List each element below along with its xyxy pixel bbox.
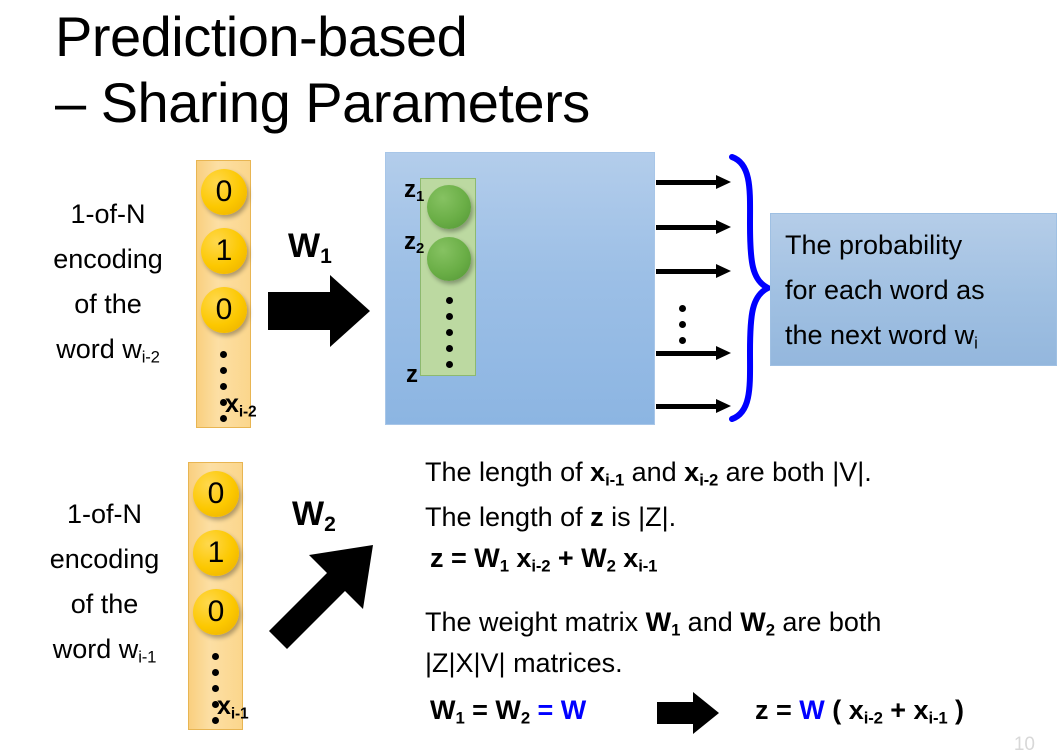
equation-z: z = W1 xi-2 + W2 xi-1 (430, 543, 657, 577)
input-2-caption-line-4: word wi-1 (22, 627, 187, 680)
arrow-w2 (265, 535, 390, 655)
probability-line-2: for each word as (785, 268, 1056, 313)
onehot-2-node-1: 1 (193, 530, 239, 576)
input-1-caption-subscript: i-2 (142, 348, 160, 367)
equation-sharing: W1 = W2 = W (430, 695, 586, 729)
probability-line-3: the next word wi (785, 313, 1056, 366)
input-1-caption-line-1: 1-of-N (28, 192, 188, 237)
input-2-caption-line-2: encoding (22, 537, 187, 582)
onehot-vector-1: 0 1 0 (196, 160, 251, 428)
output-arrow-3 (656, 266, 731, 276)
onehot-1-node-0: 0 (201, 169, 247, 215)
weight-label-w2: W2 (292, 495, 336, 537)
hidden-label-z2: z2 (404, 228, 424, 257)
onehot-vector-2-label: xi-1 (217, 692, 248, 723)
page-number: 10 (1014, 734, 1035, 750)
input-2-caption-line-3: of the (22, 582, 187, 627)
hidden-label-z1: z1 (404, 176, 424, 205)
input-1-caption: 1-of-N encoding of the word wi-2 (28, 192, 188, 380)
output-arrow-1 (656, 177, 731, 187)
onehot-1-node-2: 0 (201, 287, 247, 333)
input-2-caption-line-1: 1-of-N (22, 492, 187, 537)
hidden-layer-ellipsis (446, 297, 453, 377)
onehot-2-node-0: 0 (193, 471, 239, 517)
output-arrows-ellipsis (679, 305, 686, 353)
onehot-1-node-1: 1 (201, 228, 247, 274)
hidden-layer-box (420, 178, 476, 376)
equation-result: z = W ( xi-2 + xi-1 ) (755, 695, 964, 729)
hidden-label-z: z (406, 361, 418, 389)
slide-canvas: Prediction-based – Sharing Parameters 1-… (0, 0, 1063, 750)
hidden-node-1 (427, 185, 471, 229)
probability-box: The probability for each word as the nex… (770, 213, 1057, 366)
onehot-vector-1-label: xi-2 (225, 390, 256, 421)
grouping-brace-icon (722, 152, 774, 424)
input-2-caption: 1-of-N encoding of the word wi-1 (22, 492, 187, 680)
output-arrow-2 (656, 222, 731, 232)
input-1-caption-line-2: encoding (28, 237, 188, 282)
input-1-caption-line-3: of the (28, 282, 188, 327)
network-box (385, 152, 655, 425)
weight-label-w1: W1 (288, 227, 332, 269)
note-line-2: The length of z is |Z|. (425, 495, 676, 540)
probability-line-1: The probability (785, 223, 1056, 268)
page-title: Prediction-based – Sharing Parameters (55, 4, 755, 136)
output-arrow-5 (656, 401, 731, 411)
input-2-caption-subscript: i-1 (138, 648, 156, 667)
onehot-2-node-2: 0 (193, 589, 239, 635)
input-1-caption-line-4: word wi-2 (28, 327, 188, 380)
note-line-5: |Z|X|V| matrices. (425, 641, 623, 686)
onehot-vector-2: 0 1 0 (188, 462, 243, 730)
output-arrow-4 (656, 348, 731, 358)
hidden-node-2 (427, 237, 471, 281)
